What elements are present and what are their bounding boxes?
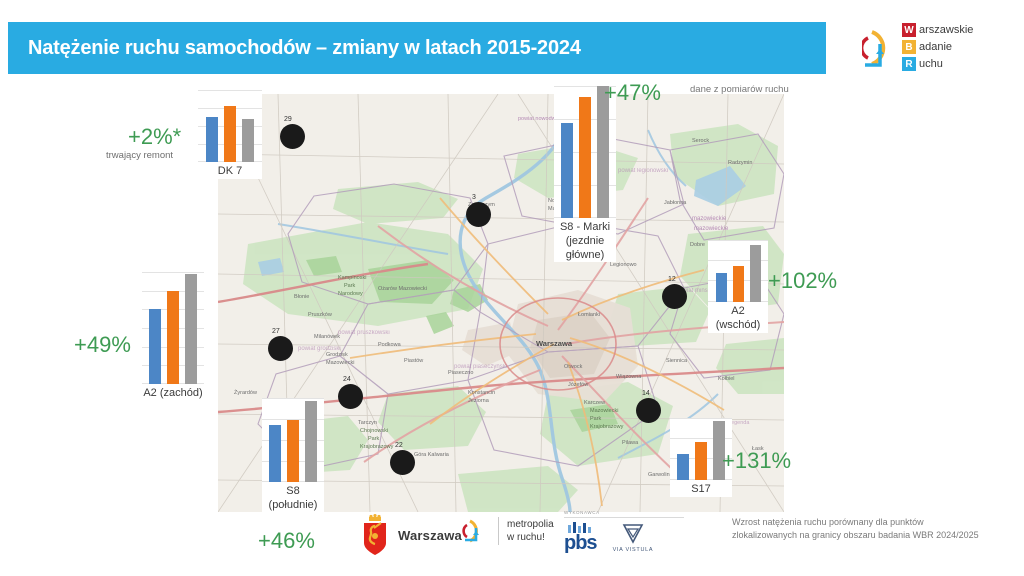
svg-text:Kołbiel: Kołbiel <box>718 376 735 382</box>
map-marker-12[interactable] <box>662 284 687 309</box>
svg-text:Park: Park <box>590 416 602 422</box>
svg-text:Chojnowski: Chojnowski <box>360 428 388 434</box>
map-marker-22[interactable] <box>390 450 415 475</box>
metropolia-arcs-icon <box>462 516 490 546</box>
chart-a2-zachod-change: +49% <box>74 332 131 358</box>
svg-text:Góra Kalwaria: Góra Kalwaria <box>414 452 450 458</box>
svg-text:Siennica: Siennica <box>666 358 688 364</box>
svg-text:Dobre: Dobre <box>690 242 705 248</box>
footnote: Wzrost natężenia ruchu porównany dla pun… <box>732 516 982 542</box>
bar-a2zachod-2024 <box>185 274 197 384</box>
chart-dk7-label: DK 7 <box>198 162 262 179</box>
chart-dk7-bars <box>198 90 262 162</box>
chart-s8-poludnie-change: +46% <box>258 528 315 554</box>
chart-s8-marki-label-l2: (jezdnie <box>554 235 616 249</box>
svg-text:Żyrardów: Żyrardów <box>234 389 257 396</box>
map-marker-27-label: 27 <box>272 328 280 335</box>
via-vistula-logo-text: VIA VISTULA <box>613 547 654 553</box>
chart-s8-poludnie-bars <box>262 398 324 482</box>
svg-text:Konstancin: Konstancin <box>468 390 495 396</box>
svg-text:Józefów: Józefów <box>568 382 588 388</box>
svg-text:powiat grodziski: powiat grodziski <box>298 346 341 352</box>
map-marker-14[interactable] <box>636 398 661 423</box>
chart-a2-zachod-label: A2 (zachód) <box>142 384 204 401</box>
bar-s8poludnie-2024 <box>305 401 317 482</box>
wykonawca-block: Wykonawca pbs VIA VISTULA <box>564 510 684 553</box>
chart-s8-marki-label-l3: główne) <box>554 249 616 263</box>
warszawa-logo: Warszawa <box>358 514 462 556</box>
chart-a2-zachod-plot <box>142 272 204 384</box>
svg-text:Wiązowna: Wiązowna <box>616 374 642 380</box>
svg-text:Grodzisk: Grodzisk <box>326 352 348 358</box>
bar-dk7-2024 <box>242 119 254 162</box>
bar-a2wschod-2015 <box>716 273 727 302</box>
bar-dk7-2019 <box>224 106 236 162</box>
svg-text:Serock: Serock <box>692 138 709 144</box>
metropolia-line1: metropolia <box>507 518 554 532</box>
via-vistula-mark-icon <box>621 521 645 545</box>
map-marker-27[interactable] <box>268 336 293 361</box>
map-marker-14-label: 14 <box>642 390 650 397</box>
wbr-word-w: arszawskie <box>919 24 973 36</box>
chart-s8-poludnie: S8 (południe) <box>262 398 324 513</box>
svg-text:Karczew: Karczew <box>584 400 605 406</box>
svg-text:Jeziorna: Jeziorna <box>468 398 490 404</box>
svg-text:Piastów: Piastów <box>404 358 423 364</box>
wbr-arcs-icon <box>862 24 896 72</box>
chart-a2-zachod-bars <box>142 272 204 384</box>
chart-a2-wschod-label: A2 (wschód) <box>708 302 768 333</box>
chart-s8-marki: S8 - Marki (jezdnie główne) <box>554 86 616 262</box>
bar-s8poludnie-2019 <box>287 420 299 482</box>
via-vistula-logo: VIA VISTULA <box>613 521 654 553</box>
svg-text:powiat piaseczyński: powiat piaseczyński <box>454 364 507 370</box>
svg-text:Krajobrazowy: Krajobrazowy <box>360 444 394 450</box>
svg-text:Otwock: Otwock <box>564 364 583 370</box>
chart-dk7-plot <box>198 90 262 162</box>
map-marker-3[interactable] <box>466 202 491 227</box>
svg-text:Jabłonna: Jabłonna <box>664 200 687 206</box>
chart-a2-wschod-label-l1: A2 <box>708 305 768 319</box>
chart-a2-wschod-plot <box>708 240 768 302</box>
svg-text:Warszawa: Warszawa <box>536 339 573 348</box>
chart-s8-poludnie-label-l2: (południe) <box>262 499 324 513</box>
svg-text:Ożarów Mazowiecki: Ożarów Mazowiecki <box>378 286 427 292</box>
map-marker-22-label: 22 <box>395 442 403 449</box>
chart-a2-wschod-label-l2: (wschód) <box>708 319 768 333</box>
map-marker-29[interactable] <box>280 124 305 149</box>
svg-text:Milanówek: Milanówek <box>314 334 340 340</box>
chart-s8-marki-change: +47% <box>604 80 661 106</box>
pbs-logo: pbs <box>564 521 597 553</box>
wbr-row-w: W arszawskie <box>902 23 973 38</box>
svg-text:Tarczyn: Tarczyn <box>358 420 377 426</box>
chart-a2-wschod-bars <box>708 240 768 302</box>
chart-s8-marki-label: S8 - Marki (jezdnie główne) <box>554 218 616 262</box>
svg-text:powiat legionowski: powiat legionowski <box>618 168 668 174</box>
svg-text:Legionowo: Legionowo <box>610 262 637 268</box>
warszawa-crest-icon <box>358 514 392 556</box>
svg-text:mazowieckie: mazowieckie <box>692 216 727 222</box>
metropolia-divider <box>498 517 499 545</box>
svg-text:Garwolin: Garwolin <box>648 472 670 478</box>
wbr-row-b: B adanie <box>902 40 973 55</box>
svg-text:Pilawa: Pilawa <box>622 440 639 446</box>
svg-text:Piaseczno: Piaseczno <box>448 370 473 376</box>
bar-a2zachod-2015 <box>149 309 161 384</box>
wbr-rows: W arszawskie B adanie R uchu <box>902 23 973 74</box>
map-marker-12-label: 12 <box>668 276 676 283</box>
bar-s8marki-2015 <box>561 123 573 218</box>
warszawa-logo-text: Warszawa <box>398 528 462 543</box>
bar-a2wschod-2024 <box>750 245 761 302</box>
slide-root: Natężenie ruchu samochodów – zmiany w la… <box>0 0 1024 576</box>
wbr-word-b: adanie <box>919 41 952 53</box>
chart-a2-wschod-change: +102% <box>768 268 837 294</box>
svg-text:Błonie: Błonie <box>294 294 309 300</box>
chart-a2-wschod: A2 (wschód) <box>708 240 768 333</box>
wbr-word-r: uchu <box>919 58 943 70</box>
wykonawca-logos-row: pbs VIA VISTULA <box>564 521 684 553</box>
pbs-logo-text: pbs <box>564 533 597 553</box>
svg-text:mazowieckie: mazowieckie <box>694 226 729 232</box>
svg-text:powiat pruszkowski: powiat pruszkowski <box>338 330 390 336</box>
chart-s17-change: +131% <box>722 448 791 474</box>
chart-dk7-change-note: trwający remont <box>106 150 173 161</box>
svg-text:Pruszków: Pruszków <box>308 312 332 318</box>
svg-text:Park: Park <box>368 436 380 442</box>
title-bar: Natężenie ruchu samochodów – zmiany w la… <box>8 22 826 74</box>
svg-text:Krajobrazowy: Krajobrazowy <box>590 424 624 430</box>
bar-dk7-2015 <box>206 117 218 162</box>
svg-text:Łomianki: Łomianki <box>578 312 600 318</box>
wbr-letter-b: B <box>902 40 916 54</box>
metropolia-line2: w ruchu! <box>507 531 554 545</box>
map-marker-29-label: 29 <box>284 116 292 123</box>
svg-text:Radzymin: Radzymin <box>728 160 752 166</box>
svg-text:Kampinoski: Kampinoski <box>338 275 366 281</box>
page-title: Natężenie ruchu samochodów – zmiany w la… <box>8 37 581 60</box>
map-marker-24-label: 24 <box>343 376 351 383</box>
bar-s17-2015 <box>677 454 689 480</box>
bar-a2zachod-2019 <box>167 291 179 384</box>
chart-s8-marki-label-l1: S8 - Marki <box>554 221 616 235</box>
svg-text:Mazowiecki: Mazowiecki <box>326 360 354 366</box>
map-marker-24[interactable] <box>338 384 363 409</box>
metropolia-text: metropolia w ruchu! <box>507 518 554 545</box>
svg-text:Podkowa: Podkowa <box>378 342 402 348</box>
wbr-row-r: R uchu <box>902 57 973 72</box>
map-marker-3-label: 3 <box>472 194 476 201</box>
wbr-letter-w: W <box>902 23 916 37</box>
chart-s8-poludnie-label-l1: S8 <box>262 485 324 499</box>
wykonawca-label: Wykonawca <box>564 510 684 518</box>
warszawskie-badanie-ruchu-logo: W arszawskie B adanie R uchu <box>862 20 1012 76</box>
bar-s17-2019 <box>695 442 707 480</box>
bar-s8poludnie-2015 <box>269 425 281 482</box>
chart-s8-poludnie-plot <box>262 398 324 482</box>
chart-dk7: DK 7 <box>198 90 262 179</box>
svg-text:Mazowiecki: Mazowiecki <box>590 408 618 414</box>
chart-s8-poludnie-label: S8 (południe) <box>262 482 324 513</box>
metropolia-logo: metropolia w ruchu! <box>462 516 554 546</box>
bar-a2wschod-2019 <box>733 266 744 302</box>
chart-dk7-change: +2%* <box>128 124 181 150</box>
chart-s17-label: S17 <box>670 480 732 497</box>
chart-a2-zachod: A2 (zachód) <box>142 272 204 401</box>
wbr-letter-r: R <box>902 57 916 71</box>
bar-s8marki-2019 <box>579 97 591 218</box>
